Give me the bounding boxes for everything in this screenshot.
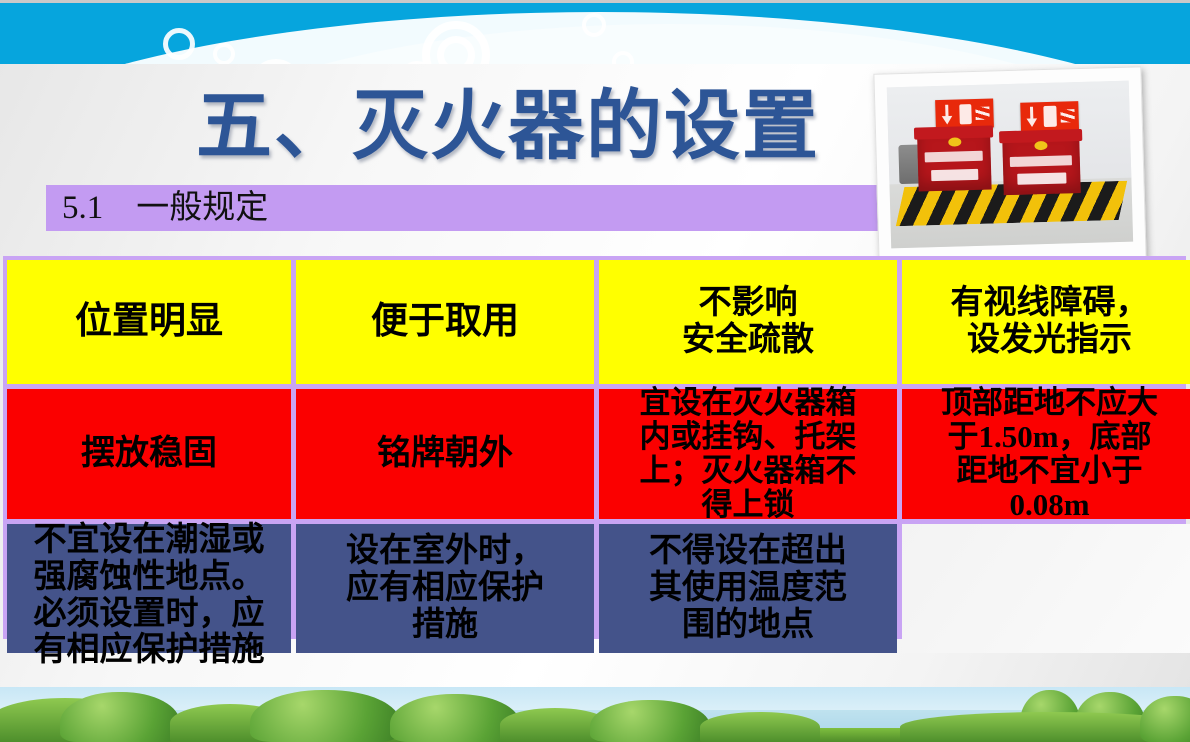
table-cell-r2-c2: 铭牌朝外 (296, 389, 594, 519)
table-cell-text: 不影响 安全疏散 (682, 285, 814, 359)
slide-canvas: 五、灭火器的设置 5.1 一般规定 位置明显便于 (0, 0, 1190, 742)
section-subtitle-bar: 5.1 一般规定 (46, 185, 880, 231)
table-cell-text: 铭牌朝外 (377, 435, 513, 473)
table-cell-r3-c3: 不得设在超出 其使用温度范 围的地点 (599, 524, 897, 653)
table-cell-text: 摆放稳固 (81, 435, 217, 473)
table-cell-text: 便于取用 (371, 301, 519, 342)
bottom-scenery-band (0, 687, 1190, 742)
fire-extinguisher-box-photo (873, 66, 1146, 265)
table-cell-text: 位置明显 (75, 301, 223, 342)
fire-extinguisher-box (917, 134, 991, 191)
table-cell-r3-c1: 不宜设在潮湿或 强腐蚀性地点。 必须设置时，应 有相应保护措施 (7, 524, 291, 653)
table-cell-r2-c3: 宜设在灭火器箱 内或挂钩、托架 上；灭火器箱不 得上锁 (599, 389, 897, 519)
page-title: 五、灭火器的设置 (196, 84, 820, 170)
photo-image (887, 81, 1133, 249)
table-cell-r2-c1: 摆放稳固 (7, 389, 291, 519)
fire-extinguisher-box (1002, 138, 1081, 195)
table-cell-r1-c2: 便于取用 (296, 260, 594, 384)
table-cell-text: 有视线障碍， 设发光指示 (951, 285, 1149, 359)
table-cell-text: 设在室外时， 应有相应保护 措施 (346, 533, 544, 644)
fire-extinguisher-sign-icon (1020, 101, 1079, 132)
table-cell-r1-c4: 有视线障碍， 设发光指示 (902, 260, 1190, 384)
table-cell-r1-c3: 不影响 安全疏散 (599, 260, 897, 384)
table-cell-text: 宜设在灭火器箱 内或挂钩、托架 上；灭火器箱不 得上锁 (640, 386, 857, 522)
section-subtitle-text: 5.1 一般规定 (62, 188, 268, 228)
table-cell-text: 不得设在超出 其使用温度范 围的地点 (649, 533, 847, 644)
top-banner (0, 0, 1190, 64)
table-cell-r3-c4 (902, 524, 1190, 653)
requirements-table: 位置明显便于取用不影响 安全疏散有视线障碍， 设发光指示摆放稳固铭牌朝外宜设在灭… (3, 256, 1186, 639)
table-cell-r1-c1: 位置明显 (7, 260, 291, 384)
table-cell-text: 顶部距地不应大 于1.50m，底部 距地不宜小于 0.08m (941, 386, 1158, 522)
table-cell-r3-c2: 设在室外时， 应有相应保护 措施 (296, 524, 594, 653)
table-cell-text: 不宜设在潮湿或 强腐蚀性地点。 必须设置时，应 有相应保护措施 (34, 522, 265, 670)
table-cell-r2-c4: 顶部距地不应大 于1.50m，底部 距地不宜小于 0.08m (902, 389, 1190, 519)
